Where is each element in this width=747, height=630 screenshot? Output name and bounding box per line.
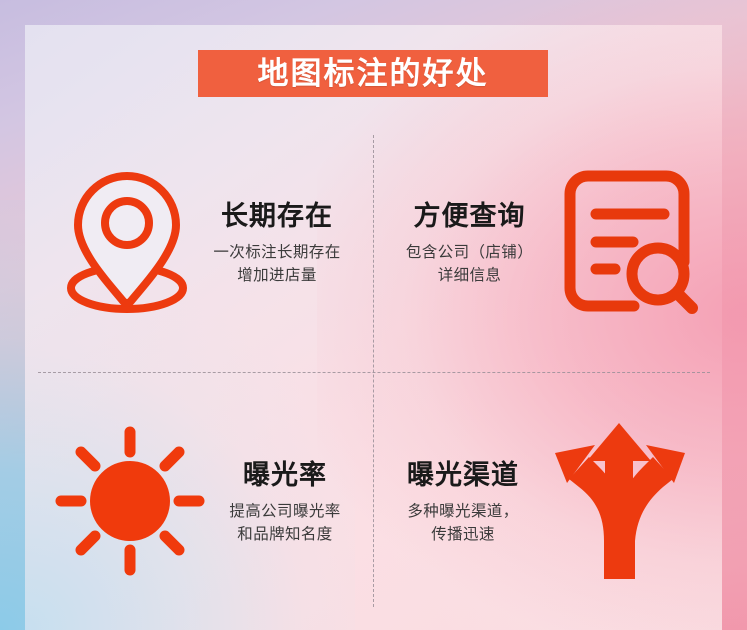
feature-text-exposure-channels: 曝光渠道 多种曝光渠道， 传播迅速 <box>379 456 547 547</box>
feature-card-easy-lookup: 方便查询 包含公司（店铺） 详细信息 <box>373 110 722 372</box>
feature-desc-line-1: 多种曝光渠道， <box>381 500 545 523</box>
feature-desc-line-2: 传播迅速 <box>381 523 545 546</box>
sun-icon <box>55 426 205 576</box>
feature-grid: 长期存在 一次标注长期存在 增加进店量 <box>25 110 722 630</box>
feature-description: 包含公司（店铺） 详细信息 <box>381 241 558 288</box>
feature-text-long-term-presence: 长期存在 一次标注长期存在 增加进店量 <box>189 195 365 288</box>
map-pin-icon <box>67 166 187 316</box>
feature-card-exposure-channels: 曝光渠道 多种曝光渠道， 传播迅速 <box>373 372 722 630</box>
feature-desc-line-2: 增加进店量 <box>191 264 363 287</box>
feature-text-exposure-rate: 曝光率 提高公司曝光率 和品牌知名度 <box>205 456 365 547</box>
feature-description: 多种曝光渠道， 传播迅速 <box>381 500 545 547</box>
feature-desc-line-1: 一次标注长期存在 <box>191 241 363 264</box>
feature-description: 一次标注长期存在 增加进店量 <box>191 241 363 288</box>
feature-title: 曝光渠道 <box>381 460 545 491</box>
feature-desc-line-2: 详细信息 <box>381 264 558 287</box>
three-arrows-icon <box>547 421 692 581</box>
infographic-card: 长期存在 一次标注长期存在 增加进店量 <box>25 25 722 630</box>
feature-title: 曝光率 <box>207 460 363 491</box>
feature-desc-line-1: 提高公司曝光率 <box>207 500 363 523</box>
feature-card-exposure-rate: 曝光率 提高公司曝光率 和品牌知名度 <box>25 372 373 630</box>
document-search-icon <box>560 166 700 316</box>
poster-background: 长期存在 一次标注长期存在 增加进店量 <box>0 0 747 630</box>
feature-title: 方便查询 <box>381 201 558 232</box>
feature-text-easy-lookup: 方便查询 包含公司（店铺） 详细信息 <box>379 195 560 288</box>
feature-description: 提高公司曝光率 和品牌知名度 <box>207 500 363 547</box>
feature-desc-line-1: 包含公司（店铺） <box>381 241 558 264</box>
page-title: 地图标注的好处 <box>258 58 489 89</box>
title-banner: 地图标注的好处 <box>198 50 548 97</box>
feature-card-long-term-presence: 长期存在 一次标注长期存在 增加进店量 <box>25 110 373 372</box>
feature-title: 长期存在 <box>191 201 363 232</box>
feature-desc-line-2: 和品牌知名度 <box>207 523 363 546</box>
